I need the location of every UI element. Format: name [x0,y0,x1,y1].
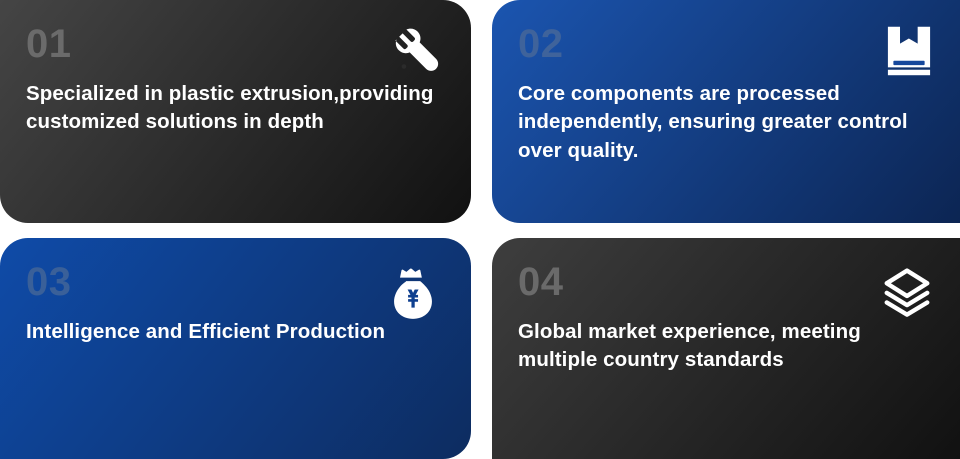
feature-card-01[interactable]: 01 Specialized in plastic extrusion,prov… [0,0,471,223]
wrench-icon [388,26,444,82]
book-bookmark-icon [884,25,934,77]
feature-card-04[interactable]: 04 Global market experience, meeting mul… [492,238,960,459]
money-bag-yen-icon [387,268,439,320]
card-text-01: Specialized in plastic extrusion,providi… [26,80,445,137]
feature-card-03[interactable]: 03 Intelligence and Efficient Production [0,238,471,459]
card-number-04: 04 [518,262,934,302]
feature-card-grid: 01 Specialized in plastic extrusion,prov… [0,0,960,459]
card-number-02: 02 [518,24,934,64]
layers-stack-icon [880,266,934,320]
card-text-02: Core components are processed independen… [518,80,934,165]
card-number-03: 03 [26,262,445,302]
card-number-01: 01 [26,24,445,64]
card-text-04: Global market experience, meeting multip… [518,318,934,375]
card-text-03: Intelligence and Efficient Production [26,318,445,346]
feature-card-02[interactable]: 02 Core components are processed indepen… [492,0,960,223]
